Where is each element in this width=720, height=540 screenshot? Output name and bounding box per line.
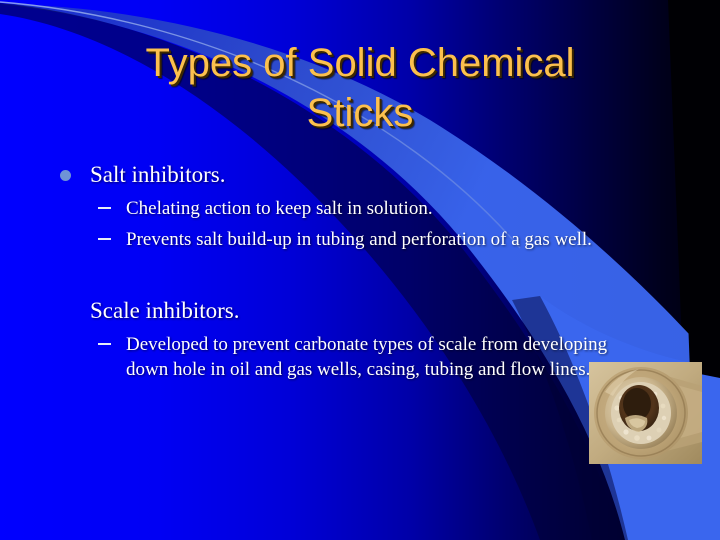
- pipe-photo-graphic: [589, 362, 702, 464]
- slide-title: Types of Solid Chemical Sticks: [60, 38, 660, 138]
- bullet-salt-inhibitors: Salt inhibitors.: [52, 160, 612, 190]
- title-line-2: Sticks: [60, 88, 660, 138]
- sub-bullet-chelating-action: Chelating action to keep salt in solutio…: [52, 196, 612, 221]
- sub-bullet-text: Prevents salt build-up in tubing and per…: [126, 229, 592, 250]
- presentation-slide: Types of Solid Chemical Sticks Salt inhi…: [0, 0, 720, 540]
- bullet-dash-icon: [98, 207, 111, 209]
- bullet-scale-inhibitors: Scale inhibitors.: [52, 296, 612, 326]
- sub-bullet-text: Developed to prevent carbonate types of …: [126, 334, 607, 380]
- bullet-dash-icon: [98, 343, 111, 345]
- scaled-pipe-cross-section-photo: [589, 362, 702, 464]
- sub-bullet-prevents-salt-buildup: Prevents salt build-up in tubing and per…: [52, 227, 612, 252]
- bullet-dash-icon: [98, 238, 111, 240]
- right-margin-dark: [676, 0, 720, 378]
- title-line-1: Types of Solid Chemical: [60, 38, 660, 88]
- sub-bullet-text: Chelating action to keep salt in solutio…: [126, 198, 433, 219]
- bullet-text: Salt inhibitors.: [90, 162, 225, 187]
- spacer-shape: [300, 500, 430, 540]
- content-spacer: [52, 252, 612, 296]
- slide-body: Salt inhibitors. Chelating action to kee…: [52, 160, 612, 382]
- sub-bullet-developed-to-prevent-carbonate: Developed to prevent carbonate types of …: [52, 332, 612, 382]
- bullet-dot-icon: [60, 170, 71, 181]
- bottom-corner-shape: [660, 490, 720, 540]
- bullet-text: Scale inhibitors.: [90, 298, 239, 323]
